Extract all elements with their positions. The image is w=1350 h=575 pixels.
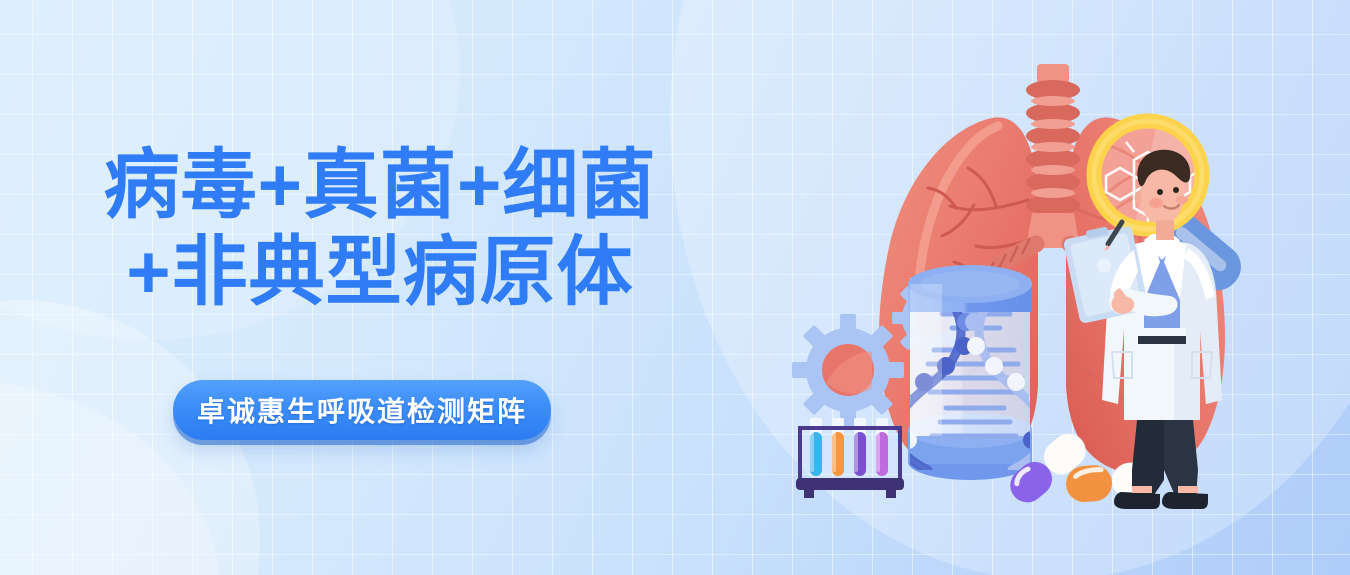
trachea — [1026, 64, 1080, 248]
subtitle-pill-label: 卓诚惠生呼吸道检测矩阵 — [197, 390, 527, 430]
test-tubes — [810, 432, 888, 476]
test-tube-rack — [796, 418, 904, 498]
subtitle-pill-button[interactable]: 卓诚惠生呼吸道检测矩阵 — [173, 380, 551, 440]
headline-line-2: +非典型病原体 — [0, 229, 760, 316]
dna-cylinder — [885, 265, 1055, 480]
promo-banner: 病毒+真菌+细菌 +非典型病原体 卓诚惠生呼吸道检测矩阵 — [0, 0, 1350, 575]
medical-illustration — [760, 0, 1350, 575]
headline-line-1: 病毒+真菌+细菌 — [0, 142, 760, 229]
gear-large — [792, 314, 904, 426]
headline-block: 病毒+真菌+细菌 +非典型病原体 — [0, 142, 760, 317]
